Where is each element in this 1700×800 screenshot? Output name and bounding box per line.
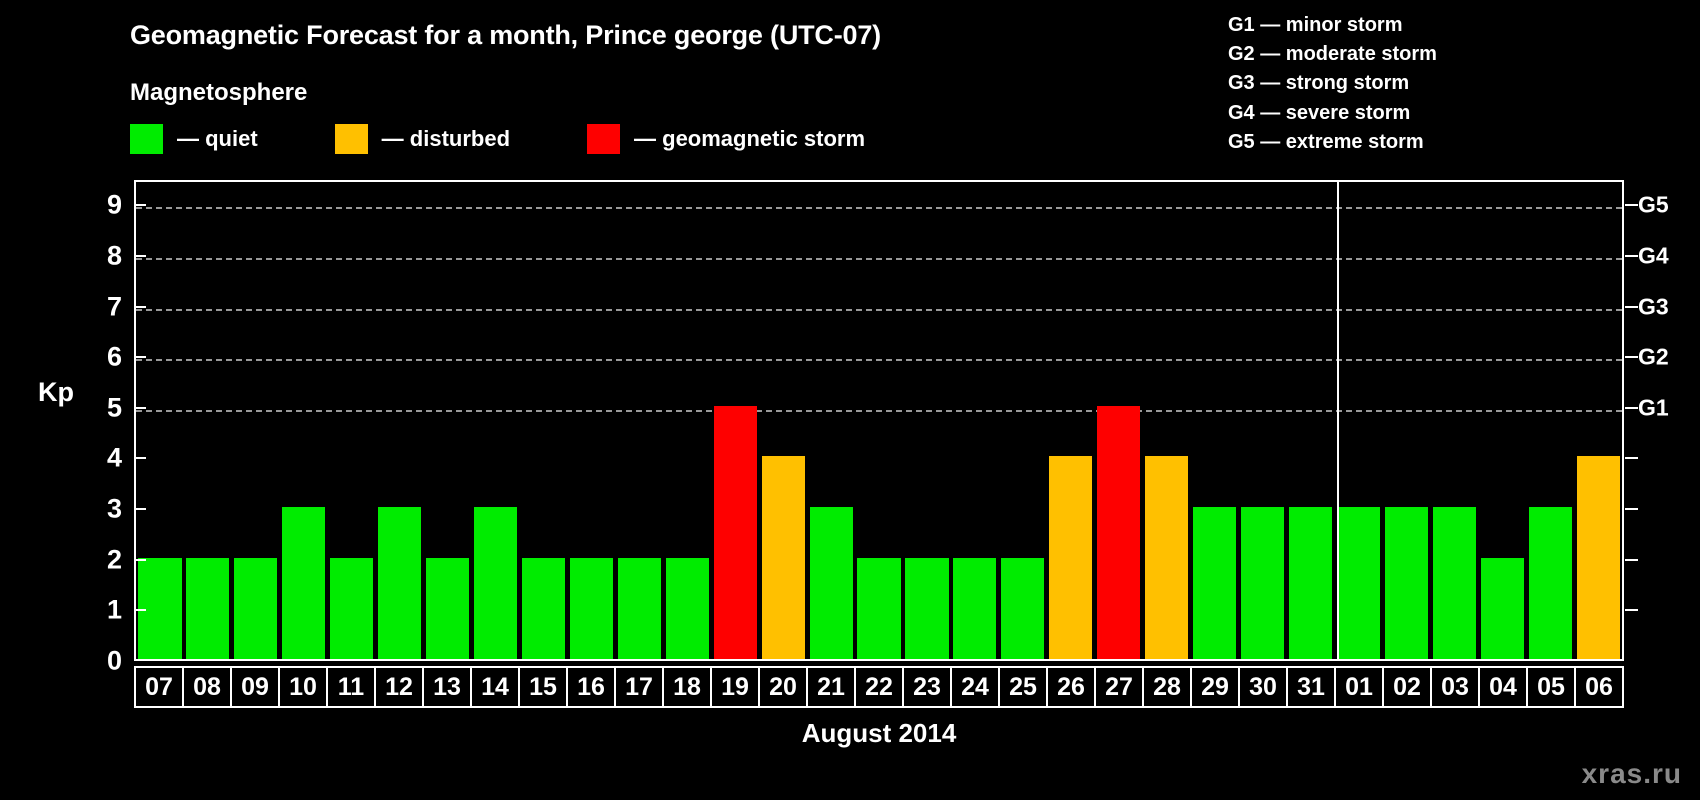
storm-scale-line-5: G5 — extreme storm: [1228, 128, 1437, 157]
legend-item-2: — geomagnetic storm: [587, 124, 865, 154]
day-label-25: 25: [998, 666, 1046, 708]
x-axis-title: August 2014: [134, 718, 1624, 749]
legend-item-label: — geomagnetic storm: [634, 126, 865, 152]
storm-scale-line-1: G1 — minor storm: [1228, 11, 1437, 40]
day-label-09: 09: [230, 666, 278, 708]
day-label-12: 12: [374, 666, 422, 708]
right-axis-tick-2: [1625, 559, 1638, 561]
bar-cell: [280, 182, 328, 659]
y-tick-label-6: 6: [62, 342, 122, 373]
bar-26: [1049, 456, 1092, 659]
day-label-30: 30: [1238, 666, 1286, 708]
bar-cell: [663, 182, 711, 659]
y-tick-mark-7: [134, 306, 146, 308]
x-axis-day-labels: 0708091011121314151617181920212223242526…: [134, 666, 1624, 708]
bar-29: [1193, 507, 1236, 659]
bar-23: [905, 558, 948, 659]
bar-16: [570, 558, 613, 659]
orange-square-icon: [335, 124, 368, 154]
watermark: xras.ru: [1582, 758, 1682, 790]
bar-06: [1577, 456, 1620, 659]
day-label-24: 24: [950, 666, 998, 708]
day-label-11: 11: [326, 666, 374, 708]
bar-05: [1529, 507, 1572, 659]
storm-scale-line-2: G2 — moderate storm: [1228, 40, 1437, 69]
day-label-10: 10: [278, 666, 326, 708]
bar-20: [762, 456, 805, 659]
g-tick-mark-G3: [1625, 306, 1638, 308]
bar-cell: [1574, 182, 1622, 659]
y-tick-label-0: 0: [62, 646, 122, 677]
bar-cell: [711, 182, 759, 659]
day-label-08: 08: [182, 666, 230, 708]
bar-cell: [567, 182, 615, 659]
g-tick-mark-G2: [1625, 356, 1638, 358]
day-label-07: 07: [134, 666, 182, 708]
bar-25: [1001, 558, 1044, 659]
bar-cell: [136, 182, 184, 659]
bar-19: [714, 406, 757, 659]
y-tick-label-1: 1: [62, 595, 122, 626]
legend-item-1: — disturbed: [335, 124, 510, 154]
day-label-26: 26: [1046, 666, 1094, 708]
bar-cell: [1143, 182, 1191, 659]
red-square-icon: [587, 124, 620, 154]
y-tick-mark-5: [134, 407, 146, 409]
bar-12: [378, 507, 421, 659]
legend: — quiet— disturbed— geomagnetic storm: [130, 124, 865, 154]
bar-cell: [520, 182, 568, 659]
storm-scale-line-4: G4 — severe storm: [1228, 99, 1437, 128]
bar-17: [618, 558, 661, 659]
bar-cell: [855, 182, 903, 659]
day-label-27: 27: [1094, 666, 1142, 708]
bar-cell: [1478, 182, 1526, 659]
bar-18: [666, 558, 709, 659]
y-tick-label-8: 8: [62, 240, 122, 271]
right-axis-tick-3: [1625, 508, 1638, 510]
bar-30: [1241, 507, 1284, 659]
day-label-28: 28: [1142, 666, 1190, 708]
storm-scale-legend: G1 — minor stormG2 — moderate stormG3 — …: [1228, 11, 1437, 157]
bar-cell: [759, 182, 807, 659]
legend-item-label: — quiet: [177, 126, 258, 152]
g-tick-label-G4: G4: [1638, 242, 1669, 269]
day-label-17: 17: [614, 666, 662, 708]
plot-area: [134, 180, 1624, 661]
bar-09: [234, 558, 277, 659]
day-label-18: 18: [662, 666, 710, 708]
day-label-23: 23: [902, 666, 950, 708]
bar-31: [1289, 507, 1332, 659]
bar-10: [282, 507, 325, 659]
y-tick-mark-3: [134, 508, 146, 510]
bar-24: [953, 558, 996, 659]
right-axis-tick-1: [1625, 609, 1638, 611]
bar-22: [857, 558, 900, 659]
bar-01: [1337, 507, 1380, 659]
geomagnetic-forecast-chart: Geomagnetic Forecast for a month, Prince…: [0, 0, 1700, 800]
day-label-29: 29: [1190, 666, 1238, 708]
bar-cell: [615, 182, 663, 659]
bar-cell: [1239, 182, 1287, 659]
bar-cell: [1047, 182, 1095, 659]
y-tick-label-2: 2: [62, 544, 122, 575]
y-tick-label-5: 5: [62, 392, 122, 423]
day-label-31: 31: [1286, 666, 1334, 708]
bar-cell: [328, 182, 376, 659]
day-label-16: 16: [566, 666, 614, 708]
y-tick-label-4: 4: [62, 443, 122, 474]
bar-08: [186, 558, 229, 659]
bar-cell: [376, 182, 424, 659]
bar-11: [330, 558, 373, 659]
y-tick-mark-4: [134, 457, 146, 459]
y-tick-mark-6: [134, 356, 146, 358]
day-label-22: 22: [854, 666, 902, 708]
bar-cell: [232, 182, 280, 659]
day-label-13: 13: [422, 666, 470, 708]
bar-cell: [807, 182, 855, 659]
bar-cell: [1334, 182, 1382, 659]
bar-cell: [424, 182, 472, 659]
day-label-20: 20: [758, 666, 806, 708]
bar-cell: [903, 182, 951, 659]
y-tick-label-9: 9: [62, 190, 122, 221]
bar-15: [522, 558, 565, 659]
y-tick-label-3: 3: [62, 494, 122, 525]
bar-28: [1145, 456, 1188, 659]
day-label-06: 06: [1574, 666, 1624, 708]
page-title: Geomagnetic Forecast for a month, Prince…: [130, 20, 881, 51]
y-tick-label-7: 7: [62, 291, 122, 322]
right-axis-tick-4: [1625, 457, 1638, 459]
legend-item-label: — disturbed: [382, 126, 510, 152]
bar-cell: [472, 182, 520, 659]
day-label-02: 02: [1382, 666, 1430, 708]
day-label-05: 05: [1526, 666, 1574, 708]
bar-cell: [1191, 182, 1239, 659]
g-tick-mark-G4: [1625, 255, 1638, 257]
bar-13: [426, 558, 469, 659]
bar-04: [1481, 558, 1524, 659]
bar-14: [474, 507, 517, 659]
day-label-01: 01: [1334, 666, 1382, 708]
day-label-03: 03: [1430, 666, 1478, 708]
y-tick-mark-2: [134, 559, 146, 561]
g-tick-label-G2: G2: [1638, 344, 1669, 371]
y-tick-mark-8: [134, 255, 146, 257]
bar-cell: [1287, 182, 1335, 659]
bar-03: [1433, 507, 1476, 659]
g-tick-label-G5: G5: [1638, 192, 1669, 219]
green-square-icon: [130, 124, 163, 154]
day-label-14: 14: [470, 666, 518, 708]
bar-cell: [1095, 182, 1143, 659]
y-tick-mark-9: [134, 204, 146, 206]
magnetosphere-label: Magnetosphere: [130, 79, 307, 107]
y-tick-mark-1: [134, 609, 146, 611]
g-tick-mark-G1: [1625, 407, 1638, 409]
g-tick-label-G1: G1: [1638, 394, 1669, 421]
bar-cell: [1526, 182, 1574, 659]
bar-cell: [1382, 182, 1430, 659]
bar-cell: [951, 182, 999, 659]
legend-item-0: — quiet: [130, 124, 258, 154]
storm-scale-line-3: G3 — strong storm: [1228, 69, 1437, 98]
bar-21: [810, 507, 853, 659]
bar-cell: [1430, 182, 1478, 659]
day-label-04: 04: [1478, 666, 1526, 708]
day-label-21: 21: [806, 666, 854, 708]
bars-container: [136, 182, 1622, 659]
bar-27: [1097, 406, 1140, 659]
g-tick-label-G3: G3: [1638, 293, 1669, 320]
month-divider-line: [1337, 182, 1339, 659]
bar-cell: [184, 182, 232, 659]
day-label-15: 15: [518, 666, 566, 708]
g-tick-mark-G5: [1625, 204, 1638, 206]
bar-02: [1385, 507, 1428, 659]
bar-cell: [999, 182, 1047, 659]
day-label-19: 19: [710, 666, 758, 708]
